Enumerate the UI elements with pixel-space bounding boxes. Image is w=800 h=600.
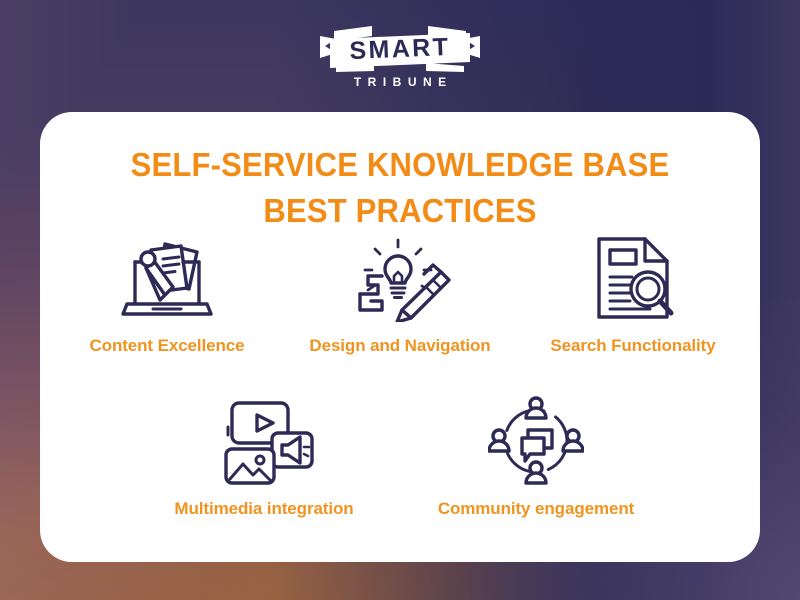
practice-item-design-and-navigation: Design and Navigation [284,232,517,356]
page-title-line-1: SELF-SERVICE KNOWLEDGE BASE [131,146,670,183]
people-circle-chat-icon [488,395,584,487]
svg-text:SMART: SMART [349,33,451,65]
content-card: SELF-SERVICE KNOWLEDGE BASE BEST PRACTIC… [40,112,760,562]
practice-item-search-functionality: Search Functionality [517,232,750,356]
brand-logo: SMART TRIBUNE [0,22,800,100]
page-title: SELF-SERVICE KNOWLEDGE BASE BEST PRACTIC… [62,142,739,234]
practice-label: Content Excellence [89,336,244,356]
ribbon-banner-icon: SMART [316,22,484,72]
practices-row-2: Multimedia integration [50,395,750,519]
lightbulb-pencil-icon [348,232,452,324]
brand-subtitle: TRIBUNE [347,75,452,89]
document-magnifier-icon [583,232,683,324]
practices-row-1: Content Excellence [50,232,750,356]
practice-label: Community engagement [438,499,634,519]
practice-item-content-excellence: Content Excellence [51,232,284,356]
laptop-document-pencil-icon [113,232,221,324]
practice-item-multimedia-integration: Multimedia integration [128,395,400,519]
infographic-poster: SMART TRIBUNE SELF-SERVICE KNOWLEDGE BAS… [0,0,800,600]
practice-label: Search Functionality [550,336,715,356]
video-megaphone-image-icon [212,395,316,487]
practice-label: Multimedia integration [174,499,353,519]
practice-item-community-engagement: Community engagement [400,395,672,519]
practice-label: Design and Navigation [309,336,490,356]
page-title-line-2: BEST PRACTICES [62,188,739,234]
